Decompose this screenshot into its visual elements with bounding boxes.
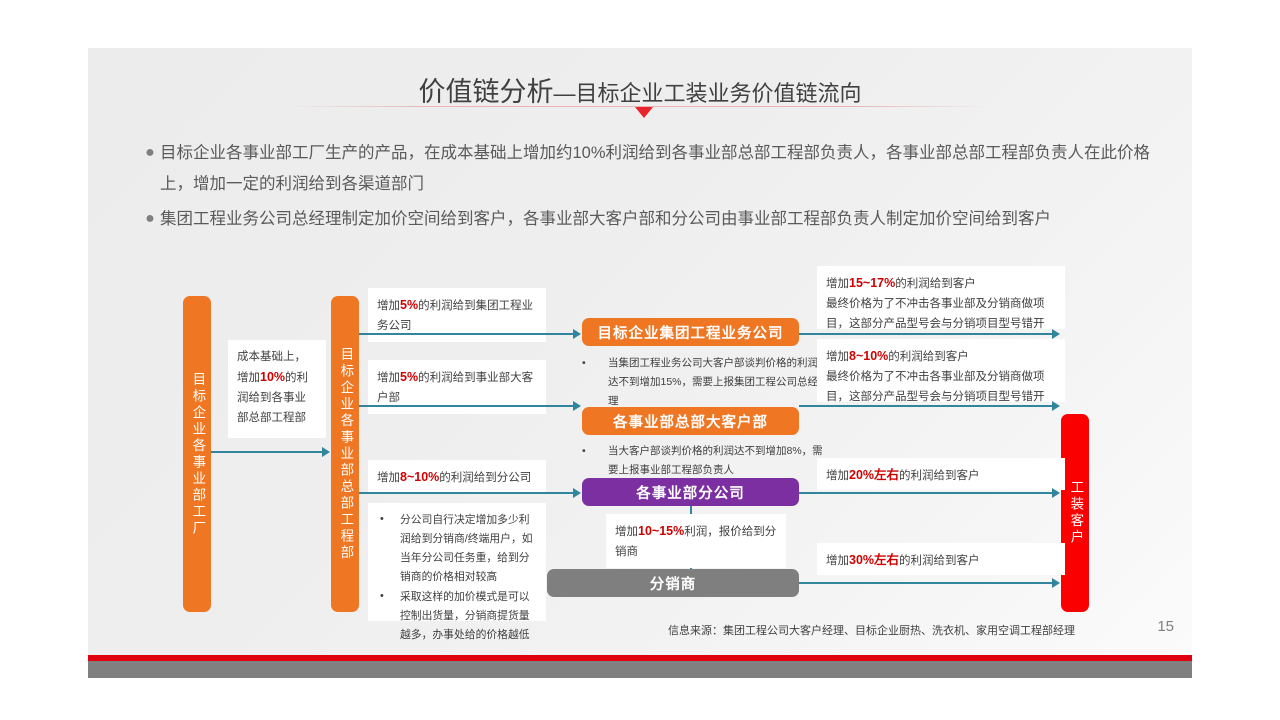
- pillar-hq-engineering: 目标企业各事业部总部工程部: [331, 296, 359, 612]
- arrow-distributor-to-customer-head: [1052, 578, 1060, 588]
- arrow-hq-to-branch-head: [573, 488, 581, 498]
- note-to-group-highlight: 5%: [400, 298, 418, 312]
- note-right-8-10-highlight: 8~10%: [849, 349, 888, 363]
- node-key-account-department-label: 各事业部总部大客户部: [613, 411, 768, 432]
- note-right-15-17-post: 的利润给到客户: [895, 278, 976, 290]
- note-right-15-17-line2: 最终价格为了不冲击各事业部及分销商做项目，这部分产品型号会与分销项目型号错开: [826, 298, 1045, 330]
- note-group-engineering-company: • 当集团工程业务公司大客户部谈判价格的利润达不到增加15%，需要上报集团工程公…: [582, 354, 822, 411]
- note-bullet-icon: •: [582, 354, 586, 373]
- note-to-key-account-highlight: 5%: [400, 370, 418, 384]
- note-right-8-10-pre: 增加: [826, 351, 849, 363]
- bottom-gray-bar: [88, 661, 1192, 678]
- note-to-key-account-pre: 增加: [377, 372, 400, 384]
- arrow-factory-to-hq-head: [322, 447, 330, 457]
- node-group-engineering-company-label: 目标企业集团工程业务公司: [598, 322, 784, 343]
- node-distributor-label: 分销商: [650, 573, 697, 594]
- node-distributor[interactable]: 分销商: [547, 569, 799, 597]
- note-right-20-pre: 增加: [826, 470, 849, 482]
- pillar-hq-engineering-label: 目标企业各事业部总部工程部: [338, 347, 353, 562]
- note-right-30-highlight: 30%左右: [849, 553, 899, 567]
- arrow-group-to-customer-head: [1052, 329, 1060, 339]
- arrow-hq-to-key-account-head: [573, 401, 581, 411]
- note-group-engineering-company-text: 当集团工程业务公司大客户部谈判价格的利润达不到增加15%，需要上报集团工程公司总…: [608, 354, 822, 411]
- note-right-15-17-pre: 增加: [826, 278, 849, 290]
- note-to-branch-post: 的利润给到分公司: [439, 472, 531, 484]
- note-branch-policy-item: 分公司自行决定增加多少利润给到分销商/终端用户，如当年分公司任务重，给到分销商的…: [374, 511, 540, 587]
- note-to-group-pre: 增加: [377, 300, 400, 312]
- arrow-branch-to-customer-line: [799, 492, 1054, 494]
- note-key-account-department: • 当大客户部谈判价格的利润达不到增加8%，需要上报事业部工程部负责人: [582, 442, 827, 480]
- note-right-15-17: 增加15~17%的利润给到客户 最终价格为了不冲击各事业部及分销商做项目，这部分…: [817, 266, 1065, 329]
- note-cost-base-highlight: 10%: [260, 370, 285, 384]
- arrow-hq-to-key-account-line: [359, 405, 574, 407]
- note-right-20-highlight: 20%左右: [849, 468, 899, 482]
- arrow-group-to-customer-line: [799, 333, 1054, 335]
- note-right-20-post: 的利润给到客户: [899, 470, 980, 482]
- note-to-branch-pre: 增加: [377, 472, 400, 484]
- note-to-branch-company: 增加8~10%的利润给到分公司: [368, 460, 546, 492]
- note-to-branch-highlight: 8~10%: [400, 470, 439, 484]
- note-branch-to-distributor-pre: 增加: [615, 526, 638, 538]
- pillar-customer-label: 工装客户: [1068, 480, 1083, 546]
- slide-canvas: 价值链分析—目标企业工装业务价值链流向 ● 目标企业各事业部工厂生产的产品，在成…: [88, 48, 1192, 662]
- note-key-account-department-text: 当大客户部谈判价格的利润达不到增加8%，需要上报事业部工程部负责人: [608, 442, 827, 480]
- arrow-key-account-to-customer-head: [1052, 401, 1060, 411]
- pillar-customer: 工装客户: [1061, 414, 1089, 612]
- note-right-30: 增加30%左右的利润给到客户: [817, 543, 1065, 575]
- note-right-20: 增加20%左右的利润给到客户: [817, 458, 1065, 490]
- note-branch-to-distributor-highlight: 10~15%: [638, 524, 684, 538]
- note-right-8-10-post: 的利润给到客户: [888, 351, 969, 363]
- note-cost-base: 成本基础上，增加10%的利润给到各事业部总部工程部: [228, 340, 326, 438]
- node-group-engineering-company[interactable]: 目标企业集团工程业务公司: [582, 318, 799, 346]
- note-right-30-pre: 增加: [826, 555, 849, 567]
- note-bullet-icon: •: [582, 442, 586, 461]
- arrow-hq-to-branch-line: [359, 492, 574, 494]
- arrow-hq-to-group-line: [359, 333, 574, 335]
- arrow-branch-to-customer-head: [1052, 488, 1060, 498]
- page-number: 15: [1157, 618, 1174, 635]
- note-branch-policy-box: 分公司自行决定增加多少利润给到分销商/终端用户，如当年分公司任务重，给到分销商的…: [368, 503, 546, 621]
- node-branch-company-label: 各事业部分公司: [636, 482, 745, 503]
- arrow-factory-to-hq-line: [211, 451, 323, 453]
- note-right-15-17-highlight: 15~17%: [849, 276, 895, 290]
- pillar-factory: 目标企业各事业部工厂: [183, 296, 211, 612]
- pillar-factory-label: 目标企业各事业部工厂: [190, 372, 205, 537]
- note-right-8-10: 增加8~10%的利润给到客户 最终价格为了不冲击各事业部及分销商做项目，这部分产…: [817, 339, 1065, 402]
- note-branch-policy-item: 采取这样的加价模式是可以控制出货量，分销商提货量越多，办事处给的价格越低: [374, 588, 540, 645]
- value-chain-diagram: 目标企业各事业部工厂 目标企业各事业部总部工程部 工装客户 成本基础上，增加10…: [88, 48, 1192, 662]
- source-note: 信息来源：集团工程公司大客户经理、目标企业厨热、洗衣机、家用空调工程部经理: [668, 622, 1075, 638]
- note-right-30-post: 的利润给到客户: [899, 555, 980, 567]
- node-key-account-department[interactable]: 各事业部总部大客户部: [582, 407, 799, 435]
- arrow-hq-to-group-head: [573, 329, 581, 339]
- note-right-8-10-line2: 最终价格为了不冲击各事业部及分销商做项目，这部分产品型号会与分销项目型号错开: [826, 371, 1045, 403]
- arrow-key-account-to-customer-line: [799, 405, 1054, 407]
- note-branch-to-distributor: 增加10~15%利润，报价给到分销商: [606, 514, 786, 568]
- arrow-distributor-to-customer-line: [799, 582, 1054, 584]
- node-branch-company[interactable]: 各事业部分公司: [582, 478, 799, 506]
